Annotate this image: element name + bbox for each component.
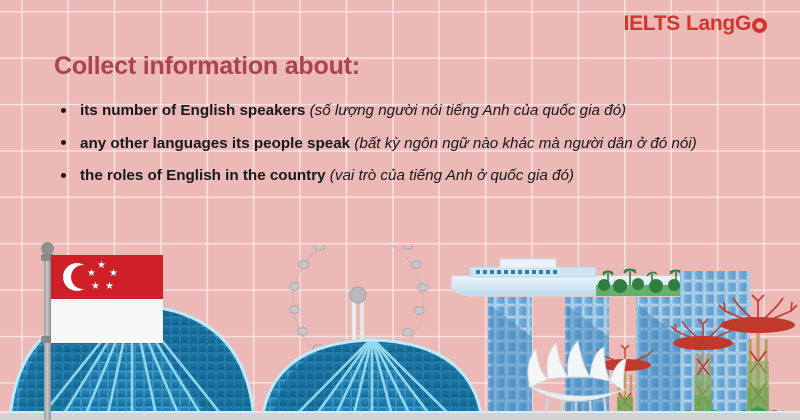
information-list: its number of English speakers (số lượng… [58, 98, 792, 196]
page-title: Collect information about: [54, 52, 360, 81]
flag-star-icon: ★ [105, 282, 114, 292]
flag-star-icon: ★ [97, 261, 106, 271]
brand-ring-o-icon [752, 18, 767, 33]
bullet-dot-icon [61, 108, 66, 113]
brand-name-lang: Lang [686, 13, 735, 34]
brand-name-g: G [735, 13, 751, 34]
brand-logo: IELTS Lang G [624, 13, 767, 34]
brand-name-ielts: IELTS [624, 13, 680, 34]
flag-white-band [51, 299, 163, 343]
list-item-gloss: (bất kỳ ngôn ngữ nào khác mà người dân ở… [354, 135, 696, 152]
singapore-flag: ★ ★ ★ ★ ★ [35, 240, 165, 420]
list-item-term: the roles of English in the country [80, 167, 326, 184]
list-item-gloss: (số lượng người nói tiếng Anh của quốc g… [310, 102, 627, 119]
list-item: any other languages its people speak (bấ… [80, 131, 792, 158]
flag-cloth: ★ ★ ★ ★ ★ [51, 255, 163, 343]
list-item-gloss: (vai trò của tiếng Anh ở quốc gia đó) [330, 167, 574, 184]
slide-canvas: IELTS Lang G Collect information about: … [0, 0, 800, 420]
flag-pole [44, 248, 51, 420]
bullet-dot-icon [61, 173, 66, 178]
list-item: the roles of English in the country (vai… [80, 163, 792, 190]
bullet-dot-icon [61, 140, 66, 145]
flag-star-icon: ★ [91, 282, 100, 292]
list-item-term: any other languages its people speak [80, 135, 350, 152]
flag-star-icon: ★ [87, 269, 96, 279]
flag-star-icon: ★ [109, 269, 118, 279]
list-item: its number of English speakers (số lượng… [80, 98, 792, 125]
list-item-term: its number of English speakers [80, 102, 305, 119]
